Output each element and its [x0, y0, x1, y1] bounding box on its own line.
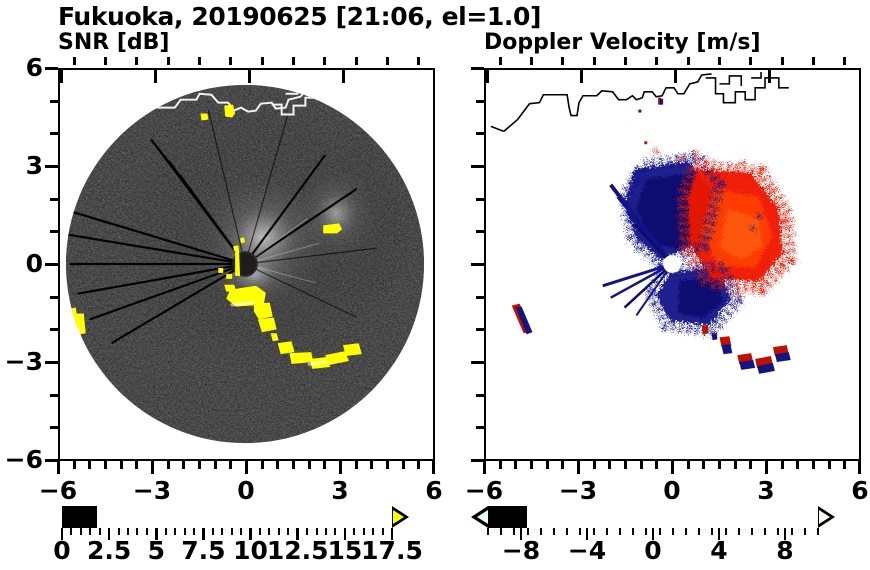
tick: [580, 70, 583, 83]
snr-plot-axes[interactable]: [58, 68, 435, 461]
tick-minor: [499, 57, 502, 65]
tick-minor: [476, 426, 484, 429]
colorbar-minor-tick: [725, 528, 727, 535]
tick-major: [45, 361, 58, 364]
colorbar-minor-tick: [363, 528, 365, 535]
tick: [248, 70, 251, 83]
tick: [60, 70, 63, 83]
colorbar-tick-label: 0: [618, 536, 688, 565]
tick-minor: [229, 57, 232, 65]
colorbar-tick-label: −8: [486, 536, 556, 565]
colorbar-minor-tick: [146, 528, 148, 535]
right-x-tick-label: 6: [830, 476, 870, 505]
tick-minor: [655, 57, 658, 65]
tick-major: [45, 165, 58, 168]
tick-major: [483, 461, 486, 474]
left-y-tick-label: −3: [0, 347, 43, 376]
colorbar-minor-tick: [184, 528, 186, 535]
tick-major: [45, 67, 58, 70]
colorbar-minor-tick: [259, 528, 261, 535]
tick-minor: [828, 461, 831, 469]
colorbar-minor-tick: [632, 528, 634, 535]
tick-minor: [355, 461, 358, 469]
tick-minor: [50, 132, 58, 135]
colorbar-minor-tick: [659, 528, 661, 535]
tick-major: [45, 459, 58, 462]
tick-minor: [50, 230, 58, 233]
tick-minor: [135, 461, 138, 469]
tick-major: [577, 461, 580, 474]
tick-minor: [104, 461, 107, 469]
tick-minor: [386, 57, 389, 65]
snr-colorbar-cells: [62, 506, 97, 528]
doppler-radar-field: [486, 70, 859, 459]
right-x-tick-label: −3: [548, 476, 608, 505]
colorbar-minor-tick: [316, 528, 318, 535]
tick: [860, 70, 861, 83]
colorbar-minor-tick: [127, 528, 129, 535]
tick-major: [57, 461, 60, 474]
colorbar-minor-tick: [240, 528, 242, 535]
tick-minor: [796, 461, 799, 469]
right-x-tick-label: 0: [642, 476, 702, 505]
tick-minor: [514, 461, 517, 469]
tick-minor: [73, 461, 76, 469]
tick-minor: [687, 461, 690, 469]
colorbar-minor-tick: [212, 528, 214, 535]
tick-minor: [812, 461, 815, 469]
tick-major: [45, 263, 58, 266]
tick-minor: [781, 57, 784, 65]
tick-minor: [104, 57, 107, 65]
colorbar-minor-tick: [804, 528, 806, 535]
left-x-tick-label: −6: [28, 476, 88, 505]
tick-minor: [687, 57, 690, 65]
tick-minor: [749, 57, 752, 65]
tick-minor: [323, 57, 326, 65]
tick-minor: [561, 57, 564, 65]
colorbar-minor-tick: [527, 528, 529, 535]
colorbar-tick-label: 17.5: [357, 536, 427, 565]
colorbar-tick-label: 4: [684, 536, 754, 565]
colorbar-minor-tick: [619, 528, 621, 535]
tick-minor: [530, 461, 533, 469]
tick-minor: [718, 57, 721, 65]
tick-minor: [292, 57, 295, 65]
left-y-tick-label: 3: [0, 151, 43, 180]
tick: [768, 70, 771, 83]
snr-colorbar-over-fill: [393, 510, 404, 524]
colorbar-minor-tick: [500, 528, 502, 535]
tick-minor: [167, 57, 170, 65]
tick-minor: [50, 198, 58, 201]
colorbar-minor-tick: [382, 528, 384, 535]
left-x-tick-label: 3: [310, 476, 370, 505]
left-y-tick-label: 0: [0, 249, 43, 278]
colorbar-minor-tick: [306, 528, 308, 535]
colorbar-minor-tick: [817, 528, 819, 535]
tick-minor: [355, 57, 358, 65]
tick-minor: [530, 57, 533, 65]
tick-minor: [308, 461, 311, 469]
tick-minor: [50, 426, 58, 429]
tick-minor: [476, 328, 484, 331]
tick: [674, 70, 677, 83]
colorbar-minor-tick: [685, 528, 687, 535]
tick-minor: [593, 57, 596, 65]
colorbar-minor-tick: [645, 528, 647, 535]
colorbar-tick-label: 8: [750, 536, 820, 565]
left-panel-title: SNR [dB]: [58, 30, 169, 55]
colorbar-minor-tick: [221, 528, 223, 535]
colorbar-minor-tick: [99, 528, 101, 535]
tick-minor: [546, 461, 549, 469]
tick-minor: [120, 461, 123, 469]
tick-minor: [50, 394, 58, 397]
tick-minor: [214, 461, 217, 469]
right-panel-title: Doppler Velocity [m/s]: [484, 30, 761, 55]
tick-minor: [50, 296, 58, 299]
colorbar-minor-tick: [334, 528, 336, 535]
colorbar-minor-tick: [698, 528, 700, 535]
page-title: Fukuoka, 20190625 [21:06, el=1.0]: [58, 2, 618, 31]
tick-major: [471, 263, 484, 266]
tick-minor: [276, 461, 279, 469]
right-x-tick-label: −6: [454, 476, 514, 505]
right-x-tick-label: 3: [736, 476, 796, 505]
tick-major: [471, 361, 484, 364]
colorbar-minor-tick: [353, 528, 355, 535]
colorbar-minor-tick: [513, 528, 515, 535]
colorbar-minor-tick: [553, 528, 555, 535]
colorbar-minor-tick: [118, 528, 120, 535]
tick-minor: [198, 57, 201, 65]
tick-minor: [476, 230, 484, 233]
colorbar-minor-tick: [791, 528, 793, 535]
tick-minor: [182, 461, 185, 469]
tick-minor: [561, 461, 564, 469]
colorbar-minor-tick: [606, 528, 608, 535]
colorbar-minor-tick: [80, 528, 82, 535]
tick-minor: [73, 57, 76, 65]
left-y-tick-label: 6: [0, 53, 43, 82]
colorbar-tick-label: −4: [552, 536, 622, 565]
tick-minor: [734, 461, 737, 469]
colorbar-minor-tick: [672, 528, 674, 535]
colorbar-minor-tick: [325, 528, 327, 535]
colorbar-minor-tick: [593, 528, 595, 535]
doppler-plot-axes[interactable]: [484, 68, 861, 461]
tick-minor: [50, 100, 58, 103]
tick-minor: [608, 461, 611, 469]
colorbar-minor-tick: [287, 528, 289, 535]
tick-minor: [88, 461, 91, 469]
doppler-colorbar-under-fill: [477, 510, 488, 524]
tick-minor: [476, 132, 484, 135]
tick-minor: [261, 57, 264, 65]
tick-major: [151, 461, 154, 474]
snr-radar-field: [60, 70, 433, 459]
radar-figure: Fukuoka, 20190625 [21:06, el=1.0] SNR [d…: [0, 0, 870, 570]
colorbar-minor-tick: [70, 528, 72, 535]
tick-major: [471, 459, 484, 462]
colorbar-minor-tick: [487, 528, 489, 535]
colorbar-minor-tick: [540, 528, 542, 535]
tick: [154, 70, 157, 83]
colorbar-minor-tick: [579, 528, 581, 535]
tick-major: [471, 67, 484, 70]
tick-minor: [229, 461, 232, 469]
colorbar-minor-tick: [89, 528, 91, 535]
tick-minor: [402, 461, 405, 469]
colorbar-minor-tick: [738, 528, 740, 535]
left-x-tick-label: 0: [216, 476, 276, 505]
tick-major: [471, 165, 484, 168]
tick-minor: [476, 198, 484, 201]
tick-minor: [476, 394, 484, 397]
colorbar-minor-tick: [764, 528, 766, 535]
colorbar-minor-tick: [165, 528, 167, 535]
colorbar-minor-tick: [711, 528, 713, 535]
tick-minor: [261, 461, 264, 469]
colorbar-minor-tick: [268, 528, 270, 535]
left-x-tick-label: −3: [122, 476, 182, 505]
doppler-colorbar[interactable]: [488, 506, 818, 528]
colorbar-minor-tick: [751, 528, 753, 535]
tick: [434, 70, 435, 83]
snr-colorbar[interactable]: [62, 506, 392, 528]
colorbar-cell: [94, 508, 95, 526]
tick-major: [339, 461, 342, 474]
tick-minor: [417, 57, 420, 65]
colorbar-minor-tick: [136, 528, 138, 535]
tick-minor: [624, 57, 627, 65]
left-y-tick-label: −6: [0, 445, 43, 474]
colorbar-minor-tick: [174, 528, 176, 535]
tick-minor: [593, 461, 596, 469]
tick-minor: [167, 461, 170, 469]
colorbar-minor-tick: [231, 528, 233, 535]
tick-minor: [198, 461, 201, 469]
doppler-colorbar-over-fill: [819, 510, 830, 524]
tick-minor: [417, 461, 420, 469]
colorbar-minor-tick: [193, 528, 195, 535]
tick-minor: [386, 461, 389, 469]
tick-minor: [640, 461, 643, 469]
tick-minor: [476, 296, 484, 299]
tick-minor: [135, 57, 138, 65]
colorbar-minor-tick: [566, 528, 568, 535]
tick-minor: [718, 461, 721, 469]
tick-minor: [812, 57, 815, 65]
tick-major: [765, 461, 768, 474]
tick-minor: [499, 461, 502, 469]
tick-major: [245, 461, 248, 474]
tick-minor: [624, 461, 627, 469]
tick-minor: [476, 100, 484, 103]
tick-minor: [749, 461, 752, 469]
doppler-colorbar-cells: [488, 506, 527, 528]
tick-minor: [370, 461, 373, 469]
tick: [342, 70, 345, 83]
tick-minor: [50, 328, 58, 331]
colorbar-cell: [524, 508, 525, 526]
tick-minor: [781, 461, 784, 469]
tick-minor: [843, 461, 846, 469]
tick-minor: [292, 461, 295, 469]
tick-major: [858, 461, 861, 474]
colorbar-minor-tick: [777, 528, 779, 535]
tick-minor: [702, 461, 705, 469]
tick-major: [671, 461, 674, 474]
tick-major: [432, 461, 435, 474]
colorbar-minor-tick: [372, 528, 374, 535]
tick: [486, 70, 489, 83]
colorbar-minor-tick: [278, 528, 280, 535]
tick-minor: [655, 461, 658, 469]
tick-minor: [323, 461, 326, 469]
tick-minor: [843, 57, 846, 65]
